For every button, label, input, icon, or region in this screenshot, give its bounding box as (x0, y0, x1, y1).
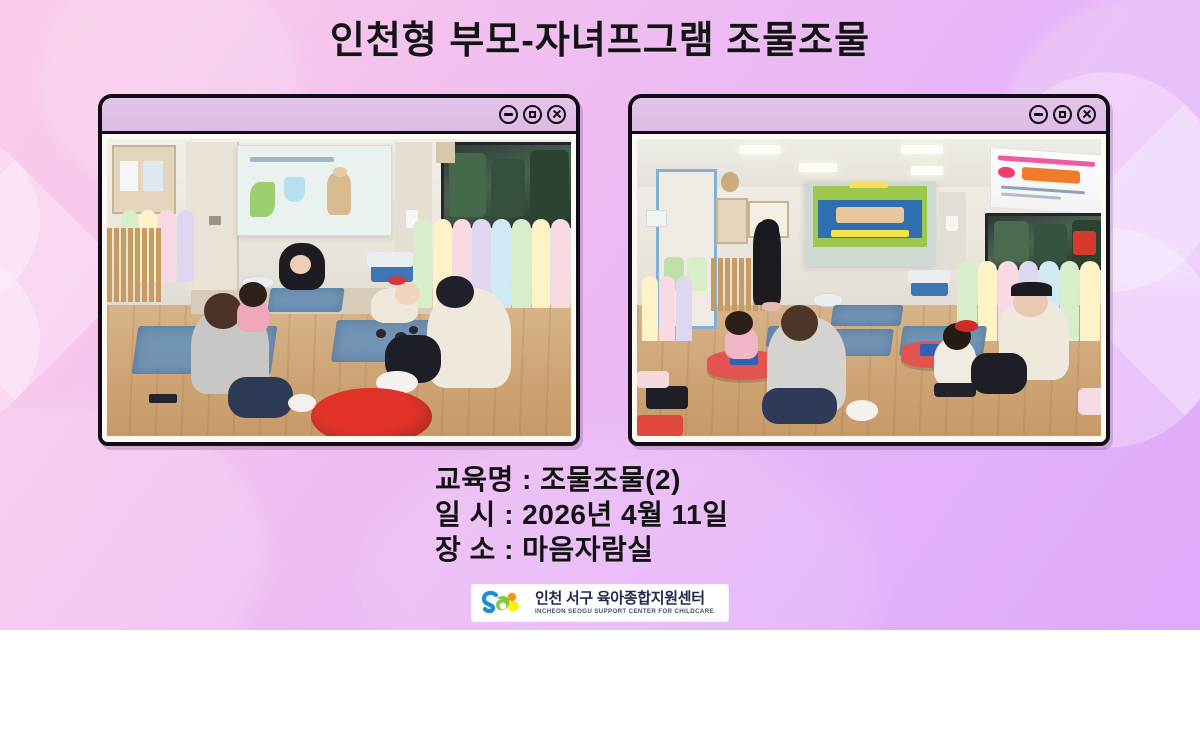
info-line-program: 교육명 : 조물조물(2) (435, 462, 765, 497)
cart-top (908, 270, 950, 283)
parent-head (781, 305, 818, 341)
photo-container-left (102, 134, 576, 442)
wooden-fence (107, 228, 163, 302)
wall-cabinet (939, 192, 967, 269)
hair-accessory (388, 276, 407, 285)
logo-english-name: INCHEON SEOGU SUPPORT CENTER FOR CHILDCA… (535, 609, 714, 615)
logo-korean-name: 인천 서구 육아종합지원센터 (535, 591, 714, 606)
info-line-place: 장 소 : 마음자람실 (435, 532, 765, 567)
minimize-icon[interactable] (1029, 105, 1048, 124)
ceiling-light (901, 145, 943, 154)
pastel-wall-panels-left (642, 276, 693, 341)
classroom-photo-right (637, 139, 1101, 436)
door-handle (209, 216, 221, 225)
close-icon[interactable] (1077, 105, 1096, 124)
parent-legs (971, 353, 1027, 395)
window-controls-right (1029, 105, 1096, 124)
parent-head (204, 293, 241, 329)
child-skirt (934, 383, 976, 398)
jacket (1078, 388, 1101, 415)
photo-window-right (628, 94, 1110, 446)
wall-picture (716, 198, 748, 244)
ceiling-light (799, 163, 836, 172)
photo-window-left (98, 94, 580, 446)
bag (646, 386, 688, 410)
standing-teacher-head (758, 219, 779, 240)
child-head (239, 282, 267, 307)
child-head (725, 311, 753, 335)
projector-screen (804, 181, 936, 266)
event-banner (990, 147, 1101, 217)
bulletin-board (112, 145, 176, 214)
smartphone (149, 394, 177, 403)
maximize-icon[interactable] (1053, 105, 1072, 124)
maximize-icon[interactable] (523, 105, 542, 124)
minimize-icon[interactable] (499, 105, 518, 124)
cap (1011, 282, 1053, 297)
red-cushion (311, 388, 432, 436)
activity-mat (830, 305, 903, 326)
wall-ornament (436, 142, 455, 163)
red-decoration (1073, 231, 1096, 255)
parent-head (436, 276, 473, 309)
parent-legs (762, 388, 836, 424)
info-line-datetime: 일 시 : 2026년 4월 11일 (435, 497, 765, 532)
parent-legs (228, 377, 293, 419)
window-titlebar-left (102, 98, 576, 134)
photo-container-right (632, 134, 1106, 442)
logo-text-block: 인천 서구 육아종합지원센터 INCHEON SEOGU SUPPORT CEN… (535, 591, 714, 615)
ceiling-light (739, 145, 781, 154)
classroom-photo-left (107, 139, 571, 436)
slippers (762, 302, 781, 311)
exterior-window (441, 142, 571, 228)
jacket (637, 371, 669, 389)
page-title: 인천형 부모-자녀프그램 조물조물 (0, 18, 1200, 64)
ceiling-light (911, 166, 943, 175)
wall-switch (646, 210, 667, 227)
cart-top (367, 252, 413, 267)
sanitizer-bottle (946, 216, 958, 231)
window-controls-left (499, 105, 566, 124)
event-info-block: 교육명 : 조물조물(2) 일 시 : 2026년 4월 11일 장 소 : 마… (0, 462, 1200, 567)
window-titlebar-right (632, 98, 1106, 134)
close-icon[interactable] (547, 105, 566, 124)
activity-mat (268, 288, 346, 312)
red-mat (637, 415, 683, 436)
projector-screen (237, 145, 392, 236)
hair-accessory (955, 320, 978, 332)
supply-cart (911, 282, 948, 297)
seogu-childcare-logo-mark-icon (482, 589, 526, 617)
clay-piece (409, 326, 418, 334)
organization-logo: 인천 서구 육아종합지원센터 INCHEON SEOGU SUPPORT CEN… (472, 585, 728, 621)
